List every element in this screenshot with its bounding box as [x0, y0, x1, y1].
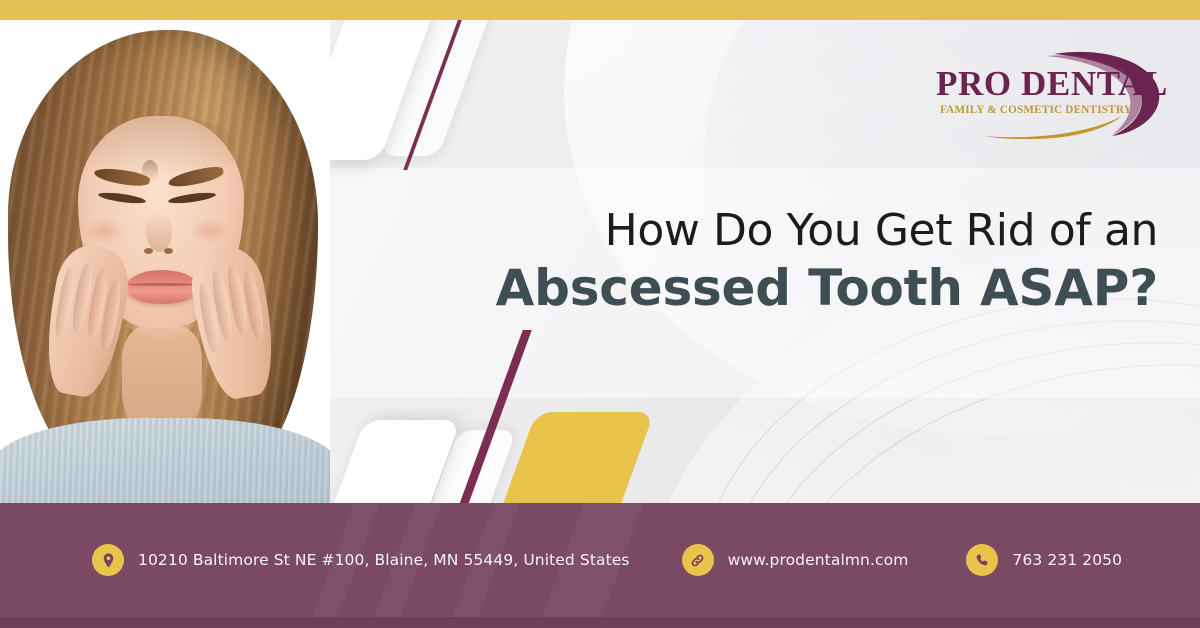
logo-tagline: FAMILY & COSMETIC DENTISTRY — [936, 104, 1136, 116]
hero-photo — [0, 20, 330, 505]
footer-phone-item[interactable]: 763 231 2050 — [966, 544, 1122, 576]
dental-promo-banner: PRO DENTAL FAMILY & COSMETIC DENTISTRY H… — [0, 0, 1200, 628]
footer-address-text: 10210 Baltimore St NE #100, Blaine, MN 5… — [138, 551, 630, 569]
logo-brand-name: PRO DENTAL — [936, 64, 1132, 104]
footer-contact-bar: 10210 Baltimore St NE #100, Blaine, MN 5… — [0, 503, 1200, 628]
link-chain-icon — [682, 544, 714, 576]
footer-address-item[interactable]: 10210 Baltimore St NE #100, Blaine, MN 5… — [92, 544, 630, 576]
cheek-blush-right — [190, 218, 230, 244]
nostril-right — [164, 248, 173, 254]
phone-icon — [966, 544, 998, 576]
nose-shape — [146, 212, 172, 252]
location-pin-icon — [92, 544, 124, 576]
lips-shape — [126, 270, 198, 304]
chin-shape — [128, 308, 194, 338]
brand-logo[interactable]: PRO DENTAL FAMILY & COSMETIC DENTISTRY — [936, 48, 1166, 140]
cheek-blush-left — [84, 218, 124, 244]
footer-website-text: www.prodentalmn.com — [728, 551, 909, 569]
footer-website-item[interactable]: www.prodentalmn.com — [682, 544, 909, 576]
headline-line-2: Abscessed Tooth ASAP? — [458, 262, 1158, 315]
forehead-shading — [86, 116, 236, 174]
nostril-left — [144, 248, 153, 254]
sweater-knit-texture — [0, 418, 330, 505]
footer-contact-list: 10210 Baltimore St NE #100, Blaine, MN 5… — [0, 503, 1200, 617]
top-accent-bar — [0, 0, 1200, 20]
brow-furrow — [142, 160, 158, 182]
headline-line-1: How Do You Get Rid of an — [458, 208, 1158, 254]
footer-phone-text: 763 231 2050 — [1012, 551, 1122, 569]
headline-block: How Do You Get Rid of an Abscessed Tooth… — [458, 208, 1158, 315]
footer-bottom-strip — [0, 617, 1200, 628]
lip-parting-line — [128, 283, 196, 286]
